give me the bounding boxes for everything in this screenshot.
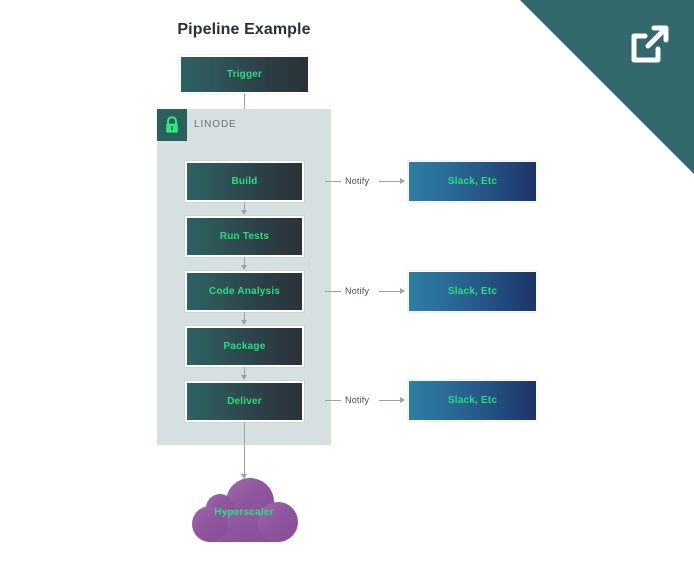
- node-run-tests[interactable]: Run Tests: [185, 216, 304, 257]
- node-trigger-label: Trigger: [227, 69, 262, 80]
- node-slack-1-label: Slack, Etc: [448, 176, 497, 187]
- node-build[interactable]: Build: [185, 161, 304, 202]
- notify-label-1: Notify: [345, 176, 369, 186]
- connector-deliver-notify-left: [325, 400, 341, 401]
- connector-runtests-to-codeanalysis-arrow: [241, 265, 247, 270]
- node-slack-3[interactable]: Slack, Etc: [408, 380, 537, 421]
- connector-deliver-to-cloud: [244, 422, 245, 476]
- connector-build-notify-arrow: [400, 178, 405, 184]
- node-slack-1[interactable]: Slack, Etc: [408, 161, 537, 202]
- node-slack-2-label: Slack, Etc: [448, 286, 497, 297]
- notify-label-2: Notify: [345, 286, 369, 296]
- lock-icon: [157, 109, 187, 141]
- node-code-analysis-label: Code Analysis: [209, 286, 280, 297]
- node-package[interactable]: Package: [185, 326, 304, 367]
- connector-build-to-runtests-arrow: [241, 210, 247, 215]
- external-link-icon[interactable]: [626, 22, 672, 68]
- node-deliver-label: Deliver: [227, 396, 262, 407]
- connector-codeanalysis-notify-left: [325, 291, 341, 292]
- node-trigger[interactable]: Trigger: [179, 55, 310, 94]
- connector-build-notify-left: [325, 181, 341, 182]
- node-code-analysis[interactable]: Code Analysis: [185, 271, 304, 312]
- connector-build-notify-right: [379, 181, 401, 182]
- connector-deliver-notify-right: [379, 400, 401, 401]
- node-deliver[interactable]: Deliver: [185, 381, 304, 422]
- node-run-tests-label: Run Tests: [220, 231, 269, 242]
- notify-label-3: Notify: [345, 395, 369, 405]
- node-package-label: Package: [224, 341, 266, 352]
- lock-glyph: [164, 116, 180, 134]
- connector-codeanalysis-notify-right: [379, 291, 401, 292]
- node-slack-3-label: Slack, Etc: [448, 395, 497, 406]
- node-build-label: Build: [232, 176, 258, 187]
- node-hyperscaler-label: Hyperscaler: [190, 507, 298, 518]
- connector-codeanalysis-to-package-arrow: [241, 320, 247, 325]
- connector-deliver-notify-arrow: [400, 397, 405, 403]
- corner-ribbon[interactable]: [520, 0, 694, 174]
- page-title: Pipeline Example: [0, 21, 488, 39]
- connector-package-to-deliver-arrow: [241, 375, 247, 380]
- linode-group-label: LINODE: [194, 119, 237, 130]
- connector-codeanalysis-notify-arrow: [400, 288, 405, 294]
- node-slack-2[interactable]: Slack, Etc: [408, 271, 537, 312]
